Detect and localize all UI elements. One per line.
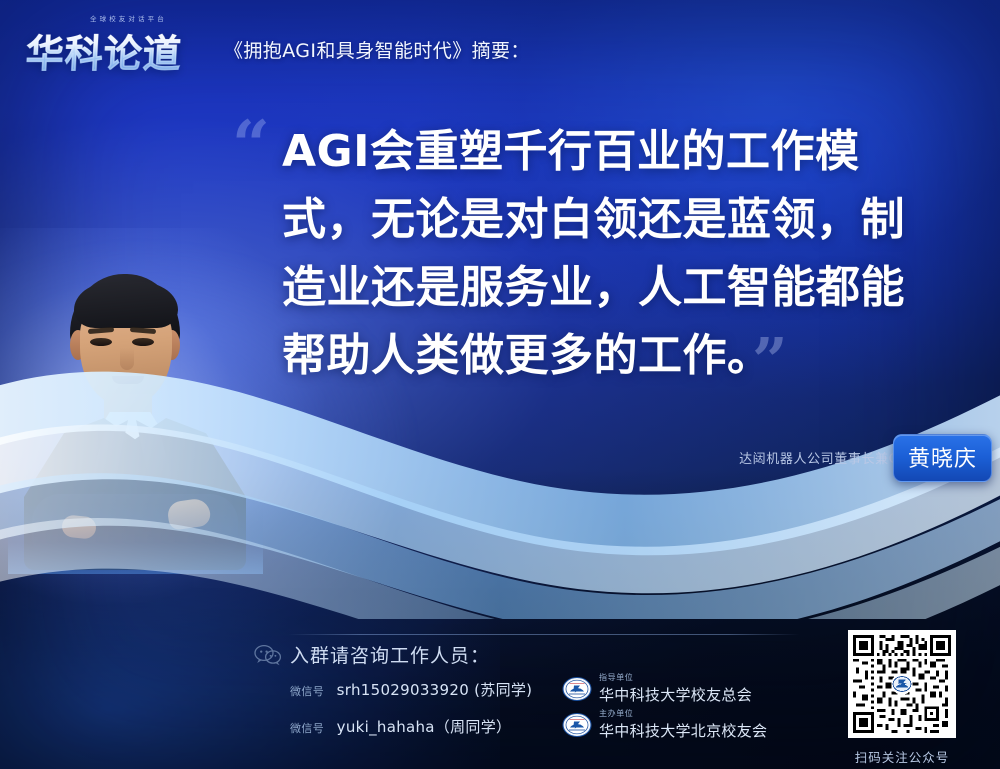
quote-open-mark: “ — [232, 112, 270, 178]
portrait-eye-left — [90, 338, 112, 346]
organization-kicker: 主办单位 — [599, 708, 767, 719]
contact-row: 微信号 yuki_hahaha（周同学） — [290, 716, 511, 737]
footer-heading: 入群请咨询工作人员： — [290, 641, 490, 668]
poster-canvas: 全球校友对话平台 华科论道 《拥抱AGI和具身智能时代》摘要： — [0, 0, 1000, 769]
footer-divider — [288, 634, 800, 635]
contact-row: 微信号 srh15029033920 (苏同学) — [290, 679, 532, 700]
portrait-nose — [120, 348, 134, 370]
attribution: 达闼机器人公司董事长兼CEO 黄晓庆 — [739, 448, 918, 467]
organization-name: 华中科技大学校友总会 — [599, 684, 752, 705]
university-seal-icon — [562, 674, 592, 704]
qr-block: 扫码关注公众号 — [836, 630, 968, 766]
contact-value[interactable]: yuki_hahaha（周同学） — [337, 718, 512, 736]
quote-line: 造业还是服务业，人工智能都能 — [282, 254, 942, 322]
quote-line: 帮助人类做更多的工作。 — [282, 322, 942, 390]
quote-block: AGI会重塑千行百业的工作模 式，无论是对白领还是蓝领，制 造业还是服务业，人工… — [282, 118, 942, 390]
quote-line: 式，无论是对白领还是蓝领，制 — [282, 186, 942, 254]
brand-name: 华科论道 — [25, 23, 184, 78]
portrait-fade — [8, 504, 263, 574]
portrait-figure — [18, 268, 253, 568]
speaker-portrait — [18, 268, 253, 568]
contact-value[interactable]: srh15029033920 (苏同学) — [337, 681, 533, 699]
organization-row: 主办单位 华中科技大学北京校友会 — [562, 708, 767, 741]
portrait-eye-right — [132, 338, 154, 346]
wechat-icon — [254, 644, 282, 666]
brand-tagline: 全球校友对话平台 — [90, 13, 167, 23]
contact-label: 微信号 — [290, 685, 324, 698]
portrait-mouth — [112, 376, 144, 384]
page-title: 《拥抱AGI和具身智能时代》摘要： — [224, 36, 530, 63]
brand-logo: 全球校友对话平台 华科论道 — [26, 12, 216, 68]
portrait-fringe — [74, 282, 178, 328]
organization-text: 主办单位 华中科技大学北京校友会 — [599, 708, 767, 741]
quote-close-mark: ” — [752, 330, 788, 392]
organization-text: 指导单位 华中科技大学校友总会 — [599, 672, 752, 705]
header: 全球校友对话平台 华科论道 《拥抱AGI和具身智能时代》摘要： — [0, 0, 1000, 92]
qr-caption: 扫码关注公众号 — [836, 747, 968, 766]
speaker-name-badge: 黄晓庆 — [893, 434, 992, 482]
speaker-role: 达闼机器人公司董事长兼CEO — [739, 448, 918, 467]
quote-line: AGI会重塑千行百业的工作模 — [282, 118, 942, 186]
contact-label: 微信号 — [290, 722, 324, 735]
organization-kicker: 指导单位 — [599, 672, 752, 683]
organization-name: 华中科技大学北京校友会 — [599, 720, 767, 741]
university-seal-icon — [562, 710, 592, 740]
organization-row: 指导单位 华中科技大学校友总会 — [562, 672, 752, 705]
qr-code[interactable] — [848, 630, 956, 738]
